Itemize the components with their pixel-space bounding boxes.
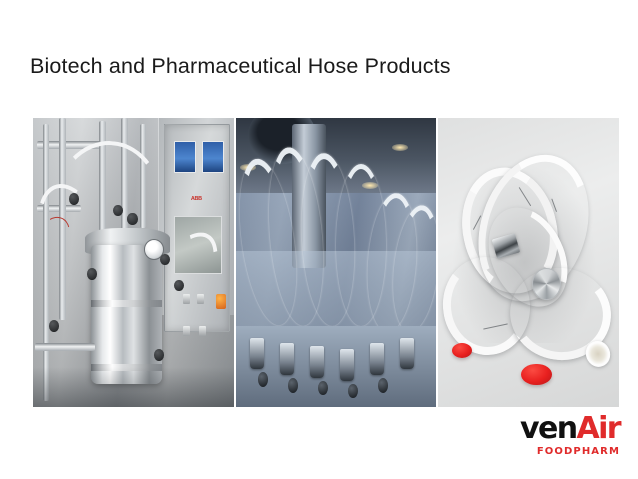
sanitary-fitting — [280, 343, 294, 375]
logo-word-ven: ven — [520, 411, 576, 446]
photo-bioreactor-skid: ABB — [33, 118, 234, 407]
valve-knob — [258, 372, 268, 386]
valve — [69, 193, 79, 205]
slide-canvas: Biotech and Pharmaceutical Hose Products… — [0, 0, 638, 479]
valve-knob — [288, 378, 298, 392]
emergency-stop-icon — [216, 294, 226, 309]
sanitary-fitting — [250, 338, 264, 370]
venair-logo: venAir FOODPHARM — [496, 414, 620, 457]
photo-white-hose-coils — [438, 118, 619, 407]
logo-word-air: Air — [577, 411, 621, 446]
panel-button — [183, 326, 190, 336]
red-protective-cap — [521, 364, 552, 386]
ceiling-lamp-icon — [392, 144, 408, 151]
valve — [174, 280, 184, 292]
logo-wordmark: venAir — [496, 414, 620, 444]
sanitary-fitting — [310, 346, 324, 378]
sanitary-fitting — [340, 349, 354, 381]
digital-display-icon — [202, 141, 224, 173]
abb-logo: ABB — [191, 196, 202, 202]
valve — [127, 213, 137, 225]
valve — [49, 320, 59, 332]
vessel-band — [91, 300, 161, 307]
stainless-end-cap — [532, 268, 561, 300]
page-title: Biotech and Pharmaceutical Hose Products — [30, 53, 451, 80]
valve — [154, 349, 164, 361]
logo-tagline: FOODPHARM — [496, 447, 620, 457]
panel-button — [199, 326, 206, 336]
photo-filling-machine-hoses — [236, 118, 436, 407]
pipe-horizontal — [35, 343, 95, 351]
floor-shadow — [33, 367, 234, 407]
valve-knob — [378, 378, 388, 392]
red-protective-cap — [452, 343, 472, 358]
sanitary-fitting — [400, 338, 414, 370]
sanitary-fitting — [370, 343, 384, 375]
valve — [160, 254, 170, 266]
photo-strip: ABB — [33, 118, 619, 407]
digital-display-icon — [174, 141, 196, 173]
